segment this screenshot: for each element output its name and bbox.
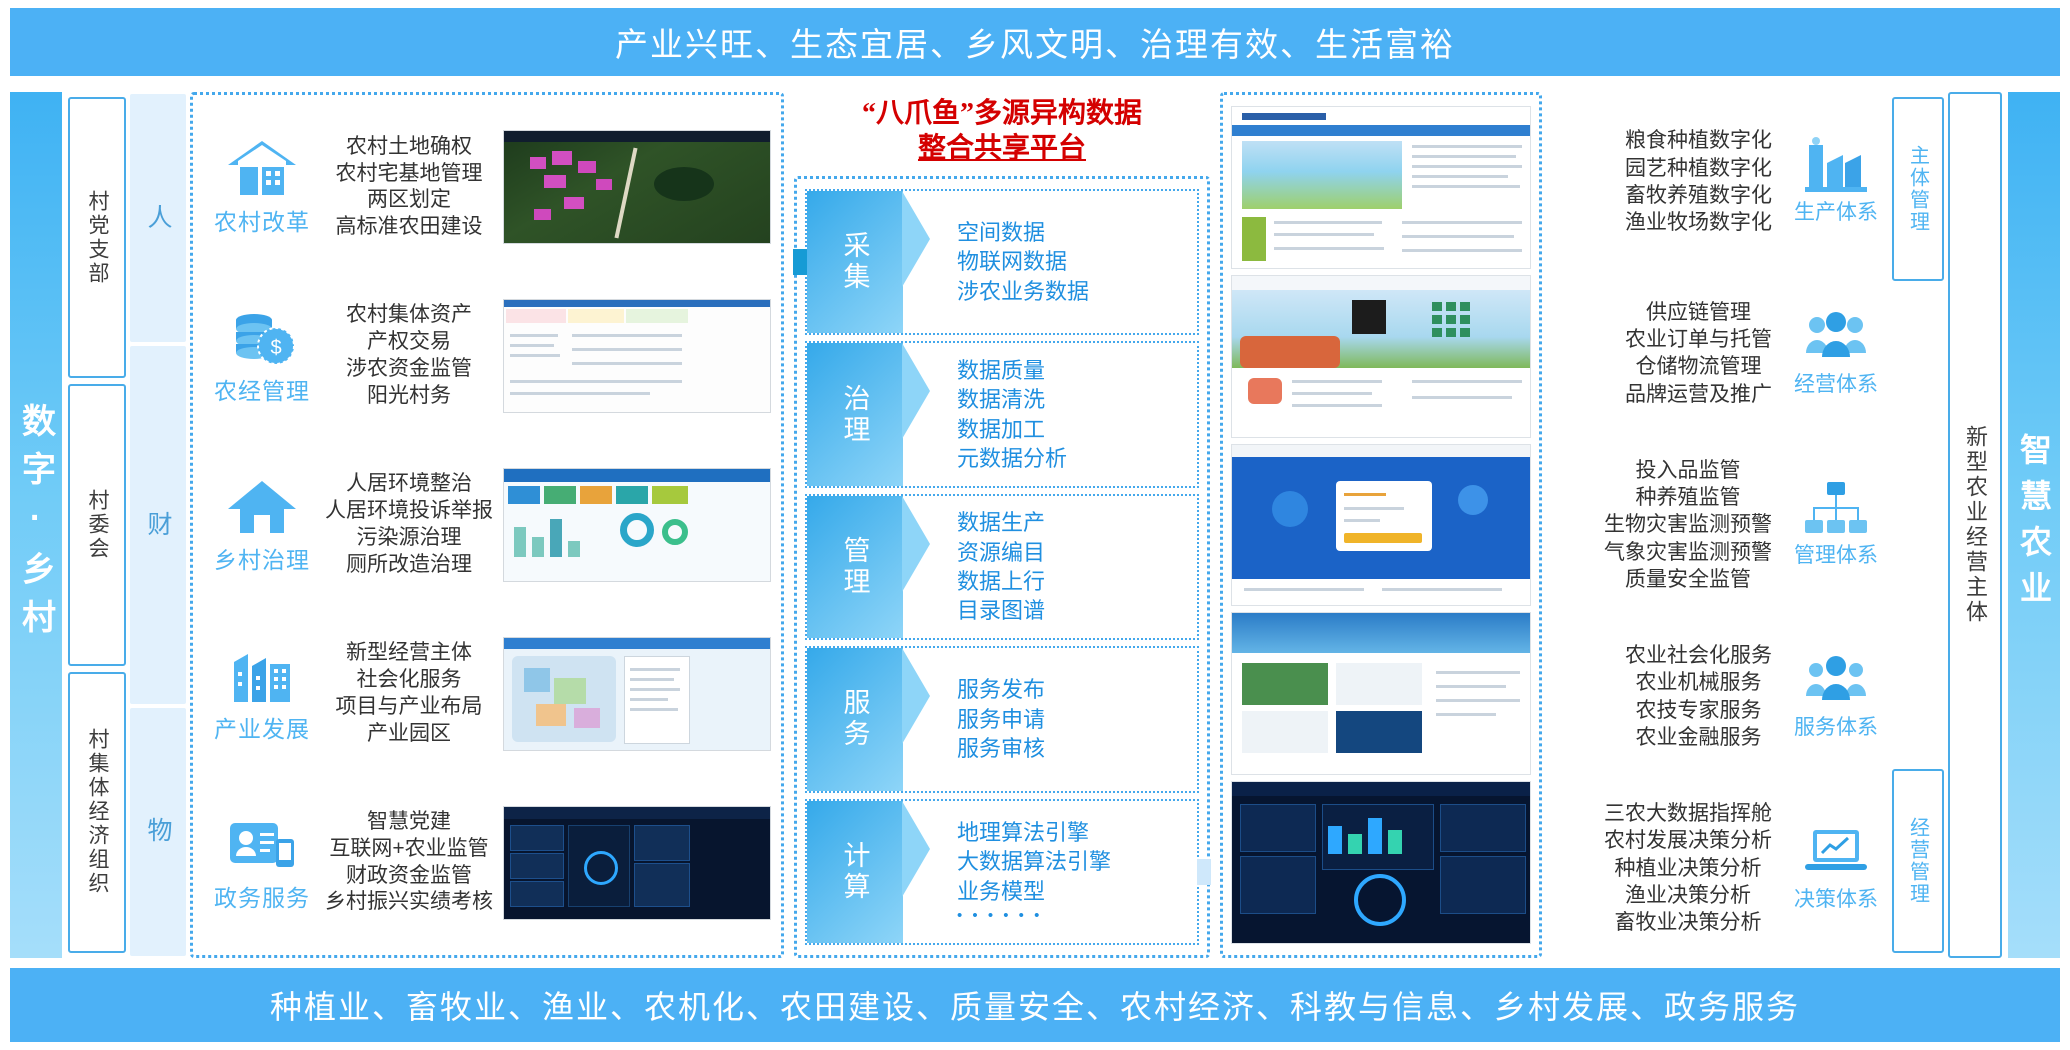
- system-item: 气象灾害监测预警: [1604, 539, 1772, 566]
- stage-chevron: 治理: [807, 343, 903, 485]
- systems-column: 粮食种植数字化 园艺种植数字化 畜牧养殖数字化 渔业牧场数字化 生产体系: [1552, 92, 1888, 958]
- resource-band-label: 物: [140, 817, 176, 846]
- stage-items: 空间数据 物联网数据 涉农业务数据: [903, 191, 1197, 333]
- system-row-operation[interactable]: 供应链管理 农业订单与托管 仓储物流管理 品牌运营及推广 经营体系: [1552, 268, 1888, 440]
- left-gradient-rail: 数字·乡村: [10, 92, 62, 958]
- stage-chevron: 服务: [807, 648, 903, 790]
- system-item: 三农大数据指挥舱: [1604, 800, 1772, 827]
- function-name: 农村改革: [214, 203, 310, 237]
- buildings-icon: [226, 644, 298, 706]
- stage-items: 数据生产 资源编目 数据上行 目录图谱: [903, 496, 1197, 638]
- system-item: 渔业牧场数字化: [1625, 209, 1772, 236]
- function-items: 农村土地确权 农村宅基地管理 两区划定 高标准农田建设: [321, 134, 497, 242]
- function-row-industry-development[interactable]: 产业发展 新型经营主体 社会化服务 项目与产业布局 产业园区: [203, 609, 771, 778]
- function-screenshot-analytics-dashboard[interactable]: [503, 468, 771, 582]
- system-item: 农村发展决策分析: [1604, 827, 1772, 854]
- function-name: 乡村治理: [214, 541, 310, 575]
- platform-title-line2: 整合共享平台: [918, 133, 1086, 164]
- resource-band-finance: 财: [130, 346, 186, 703]
- system-row-decision[interactable]: 三农大数据指挥舱 农村发展决策分析 种植业决策分析 渔业决策分析 畜牧业决策分析…: [1552, 782, 1888, 954]
- right-label-spacer: [1892, 284, 1944, 766]
- system-row-management[interactable]: 投入品监管 种养殖监管 生物灾害监测预警 气象灾害监测预警 质量安全监管: [1552, 439, 1888, 611]
- system-item: 农业订单与托管: [1625, 326, 1772, 353]
- function-item: 高标准农田建设: [321, 214, 497, 241]
- platform-panel: 采集 空间数据 物联网数据 涉农业务数据 治理 数据质量 数据清洗: [794, 176, 1210, 958]
- function-item: 财政资金监管: [321, 863, 497, 890]
- function-item: 产业园区: [321, 721, 497, 748]
- system-item: 农业社会化服务: [1625, 642, 1772, 669]
- resource-band-assets: 物: [130, 708, 186, 956]
- org-box-label: 村委会: [82, 489, 112, 561]
- system-item: 畜牧养殖数字化: [1625, 182, 1772, 209]
- laptop-chart-icon: [1803, 824, 1869, 880]
- system-name: 服务体系: [1794, 711, 1878, 741]
- function-screenshot-dark-command-center[interactable]: [503, 806, 771, 920]
- home-reform-icon: [226, 137, 298, 199]
- system-icon-block: 经营体系: [1784, 309, 1888, 398]
- infographic-root: 产业兴旺、生态宜居、乡风文明、治理有效、生活富裕 数字·乡村 村党支部 村委会 …: [0, 0, 2070, 1050]
- org-chart-icon: [1803, 480, 1869, 536]
- function-name: 产业发展: [214, 710, 310, 744]
- function-item: 乡村振兴实绩考核: [321, 889, 497, 916]
- svg-text:$: $: [270, 337, 281, 359]
- id-card-icon: [226, 813, 298, 875]
- stage-input-stub: [793, 249, 807, 275]
- stage-item: 数据生产: [957, 508, 1197, 537]
- right-screenshot-traceability-platform[interactable]: [1231, 275, 1531, 438]
- system-icon-block: 生产体系: [1784, 137, 1888, 226]
- right-label-text: 经营管理: [1904, 817, 1933, 905]
- stage-output-stub: [1197, 859, 1211, 885]
- function-row-rural-reform[interactable]: 农村改革 农村土地确权 农村宅基地管理 两区划定 高标准农田建设: [203, 103, 771, 272]
- system-item: 农业机械服务: [1625, 669, 1772, 696]
- org-box-party-branch[interactable]: 村党支部: [68, 97, 126, 378]
- stage-item: 服务审核: [957, 734, 1197, 763]
- system-name: 管理体系: [1794, 539, 1878, 569]
- function-name: 农经管理: [214, 372, 310, 406]
- function-item: 阳光村务: [321, 383, 497, 410]
- stage-item: 数据上行: [957, 567, 1197, 596]
- function-screenshot-spreadsheet-dashboard[interactable]: [503, 299, 771, 413]
- stage-name: 管理: [836, 536, 875, 598]
- system-item: 园艺种植数字化: [1625, 155, 1772, 182]
- stage-item: 服务发布: [957, 675, 1197, 704]
- function-screenshot-gis-industry-map[interactable]: [503, 637, 771, 751]
- stage-item: 业务模型: [957, 877, 1197, 906]
- stage-name: 计算: [836, 841, 875, 903]
- right-screenshot-agri-info-portal[interactable]: [1231, 106, 1531, 269]
- function-item: 涉农资金监管: [321, 356, 497, 383]
- function-items: 智慧党建 互联网+农业监管 财政资金监管 乡村振兴实绩考核: [321, 809, 497, 917]
- service-people-icon: [1803, 652, 1869, 708]
- system-name: 经营体系: [1794, 368, 1878, 398]
- system-item: 渔业决策分析: [1604, 882, 1772, 909]
- system-items: 农业社会化服务 农业机械服务 农技专家服务 农业金融服务: [1625, 642, 1784, 751]
- org-box-label: 村集体经济组织: [82, 728, 112, 896]
- function-icon-block: 政务服务: [203, 813, 321, 913]
- stage-name: 服务: [836, 688, 875, 750]
- function-item: 人居环境投诉举报: [321, 498, 497, 525]
- body-area: 数字·乡村 村党支部 村委会 村集体经济组织 人 财 物: [10, 92, 2060, 958]
- stage-item: 空间数据: [957, 218, 1197, 247]
- right-label-column: 主体管理 经营管理: [1892, 92, 1944, 958]
- resource-band-label: 财: [140, 511, 176, 540]
- right-screenshot-food-safety-blue[interactable]: [1231, 444, 1531, 607]
- function-items: 农村集体资产 产权交易 涉农资金监管 阳光村务: [321, 302, 497, 410]
- stage-chevron: 计算: [807, 801, 903, 943]
- function-item: 人居环境整治: [321, 471, 497, 498]
- stage-item: 服务申请: [957, 705, 1197, 734]
- stage-item: 大数据算法引擎: [957, 847, 1197, 876]
- platform-stage-service[interactable]: 服务 服务发布 服务申请 服务审核: [805, 646, 1199, 792]
- new-agri-entity-label: 新型农业经营主体: [1959, 425, 1991, 625]
- function-item: 农村集体资产: [321, 302, 497, 329]
- bottom-banner-text: 种植业、畜牧业、渔业、农机化、农田建设、质量安全、农村经济、科教与信息、乡村发展…: [270, 982, 1800, 1028]
- function-items: 人居环境整治 人居环境投诉举报 污染源治理 厕所改造治理: [321, 471, 497, 579]
- function-icon-block: 农村改革: [203, 137, 321, 237]
- stage-chevron: 管理: [807, 496, 903, 638]
- function-screenshot-satellite-parcel-map[interactable]: [503, 130, 771, 244]
- org-box-collective-economy[interactable]: 村集体经济组织: [68, 672, 126, 953]
- system-icon-block: 服务体系: [1784, 652, 1888, 741]
- system-item: 质量安全监管: [1604, 566, 1772, 593]
- right-gradient-rail: 智慧农业: [2008, 92, 2060, 958]
- system-name: 生产体系: [1794, 196, 1878, 226]
- function-item: 农村土地确权: [321, 134, 497, 161]
- new-agri-entity-column[interactable]: 新型农业经营主体: [1948, 92, 2002, 958]
- system-items: 三农大数据指挥舱 农村发展决策分析 种植业决策分析 渔业决策分析 畜牧业决策分析: [1604, 800, 1784, 936]
- org-column: 村党支部 村委会 村集体经济组织: [68, 92, 126, 958]
- platform-title-line1: “八爪鱼”多源异构数据: [794, 96, 1210, 131]
- platform-stage-compute[interactable]: 计算 地理算法引擎 大数据算法引擎 业务模型 • • • • • •: [805, 799, 1199, 945]
- left-rail-title: 数字·乡村: [12, 403, 61, 647]
- function-item: 厕所改造治理: [321, 552, 497, 579]
- function-icon-block: $ 农经管理: [203, 306, 321, 406]
- system-item: 种养殖监管: [1604, 484, 1772, 511]
- stage-item: 涉农业务数据: [957, 277, 1197, 306]
- function-items: 新型经营主体 社会化服务 项目与产业布局 产业园区: [321, 640, 497, 748]
- system-item: 仓储物流管理: [1625, 353, 1772, 380]
- system-row-service[interactable]: 农业社会化服务 农业机械服务 农技专家服务 农业金融服务 服务体系: [1552, 611, 1888, 783]
- stage-item: 数据加工: [957, 415, 1197, 444]
- right-screenshot-service-portal[interactable]: [1231, 612, 1531, 775]
- org-box-label: 村党支部: [82, 190, 112, 286]
- stage-item: 元数据分析: [957, 444, 1197, 473]
- stage-item: 数据质量: [957, 356, 1197, 385]
- stage-items: 服务发布 服务申请 服务审核: [903, 648, 1197, 790]
- resource-band-people: 人: [130, 94, 186, 342]
- stage-item: 资源编目: [957, 538, 1197, 567]
- system-items: 粮食种植数字化 园艺种植数字化 畜牧养殖数字化 渔业牧场数字化: [1625, 127, 1784, 236]
- functions-panel: 农村改革 农村土地确权 农村宅基地管理 两区划定 高标准农田建设: [190, 92, 784, 958]
- stage-name: 治理: [836, 384, 875, 446]
- system-item: 畜牧业决策分析: [1604, 909, 1772, 936]
- function-item: 智慧党建: [321, 809, 497, 836]
- function-item: 新型经营主体: [321, 640, 497, 667]
- people-group-icon: [1803, 309, 1869, 365]
- stage-name: 采集: [836, 231, 875, 293]
- function-item: 污染源治理: [321, 525, 497, 552]
- coins-icon: $: [226, 306, 298, 368]
- system-name: 决策体系: [1794, 883, 1878, 913]
- system-item: 投入品监管: [1604, 457, 1772, 484]
- function-item: 农村宅基地管理: [321, 161, 497, 188]
- platform-column: “八爪鱼”多源异构数据 整合共享平台 采集 空间数据 物联网数据 涉农业务数据: [794, 92, 1210, 958]
- function-name: 政务服务: [214, 879, 310, 913]
- factory-icon: [1803, 137, 1869, 193]
- org-box-village-committee[interactable]: 村委会: [68, 384, 126, 665]
- function-item: 产权交易: [321, 329, 497, 356]
- stage-item: 地理算法引擎: [957, 818, 1197, 847]
- platform-stage-management[interactable]: 管理 数据生产 资源编目 数据上行 目录图谱: [805, 494, 1199, 640]
- system-icon-block: 管理体系: [1784, 480, 1888, 569]
- system-item: 生物灾害监测预警: [1604, 511, 1772, 538]
- system-icon-block: 决策体系: [1784, 824, 1888, 913]
- system-item: 粮食种植数字化: [1625, 127, 1772, 154]
- right-screenshot-bigdata-dark-board[interactable]: [1231, 781, 1531, 944]
- function-item: 两区划定: [321, 187, 497, 214]
- function-item: 互联网+农业监管: [321, 836, 497, 863]
- right-screenshots-panel: [1220, 92, 1542, 958]
- right-label-operation-management[interactable]: 经营管理: [1892, 769, 1944, 953]
- resource-column: 人 财 物: [130, 92, 186, 958]
- system-item: 农技专家服务: [1625, 697, 1772, 724]
- system-row-production[interactable]: 粮食种植数字化 园艺种植数字化 畜牧养殖数字化 渔业牧场数字化 生产体系: [1552, 96, 1888, 268]
- system-items: 投入品监管 种养殖监管 生物灾害监测预警 气象灾害监测预警 质量安全监管: [1604, 457, 1784, 593]
- stage-item: 数据清洗: [957, 385, 1197, 414]
- function-row-rural-governance[interactable]: 乡村治理 人居环境整治 人居环境投诉举报 污染源治理 厕所改造治理: [203, 441, 771, 610]
- function-item: 社会化服务: [321, 667, 497, 694]
- stage-item: 目录图谱: [957, 596, 1197, 625]
- platform-stage-governance[interactable]: 治理 数据质量 数据清洗 数据加工 元数据分析: [805, 341, 1199, 487]
- stage-items: 数据质量 数据清洗 数据加工 元数据分析: [903, 343, 1197, 485]
- system-items: 供应链管理 农业订单与托管 仓储物流管理 品牌运营及推广: [1625, 299, 1784, 408]
- function-icon-block: 产业发展: [203, 644, 321, 744]
- system-item: 品牌运营及推广: [1625, 381, 1772, 408]
- right-rail-title: 智慧农业: [2011, 433, 2057, 617]
- stage-items: 地理算法引擎 大数据算法引擎 业务模型 • • • • • •: [903, 801, 1197, 943]
- function-item: 项目与产业布局: [321, 694, 497, 721]
- top-banner: 产业兴旺、生态宜居、乡风文明、治理有效、生活富裕: [10, 8, 2060, 76]
- top-banner-text: 产业兴旺、生态宜居、乡风文明、治理有效、生活富裕: [615, 18, 1455, 66]
- stage-item-ellipsis: • • • • • •: [957, 906, 1197, 926]
- right-label-subject-management[interactable]: 主体管理: [1892, 97, 1944, 281]
- stage-item: 物联网数据: [957, 247, 1197, 276]
- bottom-banner: 种植业、畜牧业、渔业、农机化、农田建设、质量安全、农村经济、科教与信息、乡村发展…: [10, 968, 2060, 1042]
- platform-stage-collect[interactable]: 采集 空间数据 物联网数据 涉农业务数据: [805, 189, 1199, 335]
- function-row-agri-economy[interactable]: $ 农经管理 农村集体资产 产权交易 涉农资金监管 阳光村务: [203, 272, 771, 441]
- stage-chevron: 采集: [807, 191, 903, 333]
- system-item: 种植业决策分析: [1604, 855, 1772, 882]
- function-row-government-service[interactable]: 政务服务 智慧党建 互联网+农业监管 财政资金监管 乡村振兴实绩考核: [203, 778, 771, 947]
- right-label-text: 主体管理: [1904, 145, 1933, 233]
- house-icon: [226, 475, 298, 537]
- resource-band-label: 人: [140, 204, 176, 233]
- platform-title: “八爪鱼”多源异构数据 整合共享平台: [794, 92, 1210, 176]
- system-item: 农业金融服务: [1625, 724, 1772, 751]
- system-item: 供应链管理: [1625, 299, 1772, 326]
- function-icon-block: 乡村治理: [203, 475, 321, 575]
